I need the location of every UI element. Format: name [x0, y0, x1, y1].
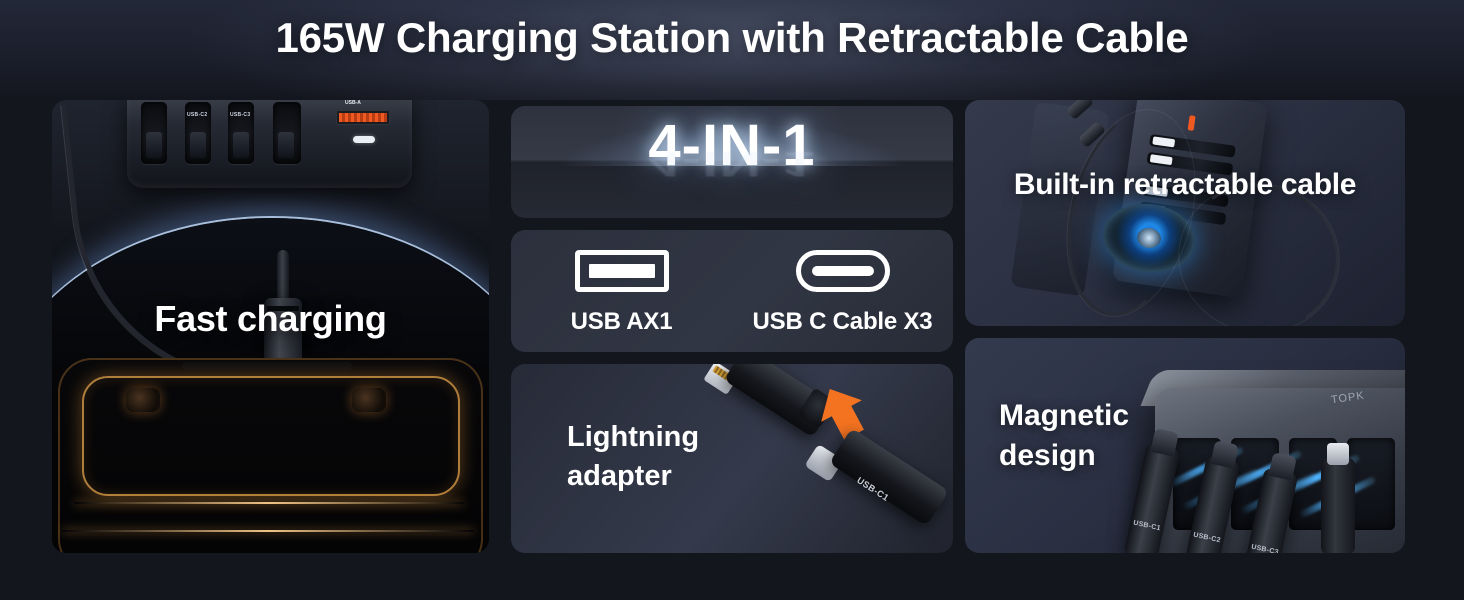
- phone-light-line-1: [74, 502, 464, 504]
- panel-port-summary[interactable]: USB AX1 USB C Cable X3: [511, 230, 953, 352]
- magnetic-design-label: Magnetic design: [999, 396, 1129, 476]
- page-title: 165W Charging Station with Retractable C…: [0, 14, 1464, 62]
- charging-station-body: USB-C2 USB-C3 USB-A: [127, 100, 412, 188]
- magnetic-label-line-2: design: [999, 436, 1129, 476]
- lightning-connector: [1321, 458, 1355, 553]
- usb-c-count-label: USB C Cable X3: [732, 308, 953, 336]
- feature-grid: USB-C2 USB-C3 USB-A Fast charging 4-IN-1…: [0, 100, 1464, 560]
- panel-retractable-cable[interactable]: Built-in retractable cable: [965, 100, 1405, 326]
- phone-camera-right: [352, 388, 386, 412]
- usb-a-port: [336, 110, 390, 125]
- panel-fast-charging[interactable]: USB-C2 USB-C3 USB-A Fast charging: [52, 100, 489, 553]
- port-label-usb-c3: USB-C3: [230, 112, 250, 118]
- usb-a-zone: USB-A: [332, 100, 394, 166]
- port-item-usb-a: USB AX1: [511, 250, 732, 336]
- usb-a-count-label: USB AX1: [511, 308, 732, 336]
- port-label-usb-c2: USB-C2: [187, 112, 207, 118]
- dock-led-indicator: [1188, 115, 1196, 131]
- charger-slot-1: [141, 102, 167, 164]
- charger-cable-slot: [273, 102, 301, 164]
- port-label-usb-a: USB-A: [345, 100, 361, 106]
- phone-notch: [182, 362, 352, 370]
- lightning-label-line-1: Lightning: [567, 418, 699, 457]
- port-icon-row: USB AX1 USB C Cable X3: [511, 250, 953, 336]
- connector-label-usb-c1: USB-C1: [1132, 520, 1161, 533]
- port-item-usb-c: USB C Cable X3: [732, 250, 953, 336]
- four-in-one-reflection: 4-IN-1: [511, 144, 953, 184]
- lightning-label-line-2: adapter: [567, 457, 699, 496]
- connector-label-usb-c3: USB-C3: [1250, 544, 1279, 553]
- usb-c-cable-body: [829, 428, 949, 526]
- fast-charging-label: Fast charging: [52, 298, 489, 340]
- panel-lightning-adapter[interactable]: Lightning adapter USB-C1: [511, 364, 953, 553]
- phone-camera-left: [126, 388, 160, 412]
- panel-magnetic-design[interactable]: TOPK USB-C1 USB-C2 USB-C3 Magnetic desig…: [965, 338, 1405, 553]
- phone-light-line-2: [62, 530, 474, 532]
- retractable-cable-label: Built-in retractable cable: [965, 168, 1405, 202]
- lightning-adapter-label: Lightning adapter: [567, 418, 699, 495]
- magnetic-label-line-1: Magnetic: [999, 396, 1129, 436]
- usb-c-port-indicator: [353, 136, 375, 143]
- usb-c-icon: [796, 250, 890, 292]
- panel-four-in-one[interactable]: 4-IN-1 4-IN-1: [511, 106, 953, 218]
- usb-a-icon: [575, 250, 669, 292]
- connector-label-usb-c2: USB-C2: [1192, 532, 1221, 545]
